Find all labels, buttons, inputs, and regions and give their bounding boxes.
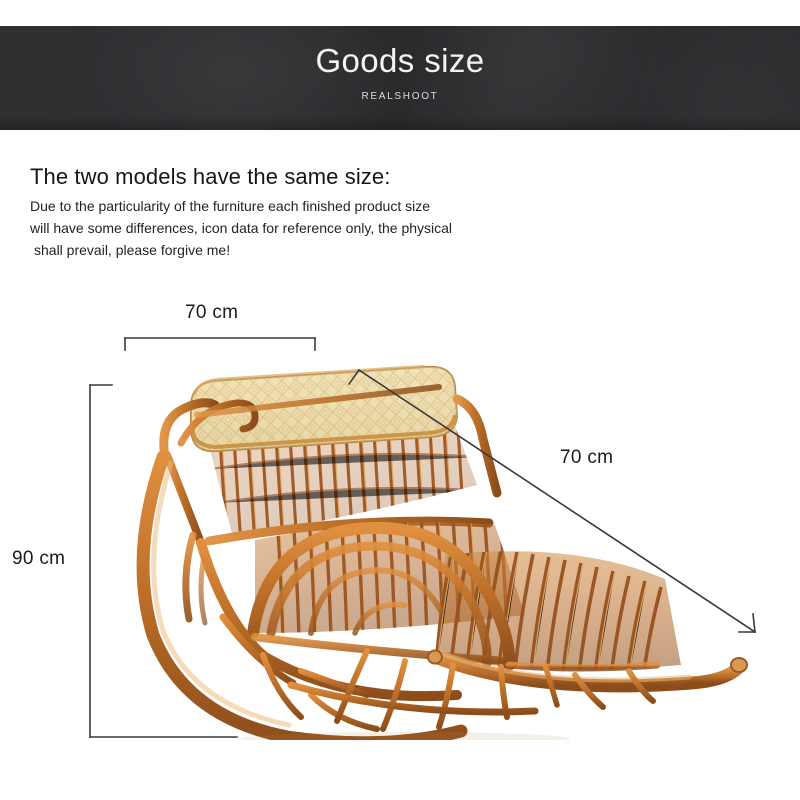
intro-section: The two models have the same size: Due t… xyxy=(30,162,650,261)
dimension-line-width xyxy=(125,338,315,350)
intro-body-line-3: shall prevail, please forgive me! xyxy=(30,239,460,261)
intro-body-line-2: will have some differences, icon data fo… xyxy=(30,217,460,239)
product-photo-rattan-rocking-chair xyxy=(105,365,765,740)
header-banner: Goods size REALSHOOT xyxy=(0,26,800,130)
banner-subtitle: REALSHOOT xyxy=(0,92,800,102)
intro-body: Due to the particularity of the furnitur… xyxy=(30,195,460,261)
rail-end-cap xyxy=(731,658,747,672)
dimension-label-depth: 70 cm xyxy=(560,447,613,469)
dimension-label-width: 70 cm xyxy=(185,302,238,324)
product-dimension-diagram: 70 cm 90 cm 70 cm xyxy=(0,280,800,780)
dimension-label-height: 90 cm xyxy=(12,548,65,570)
intro-heading: The two models have the same size: xyxy=(30,162,650,192)
rail-end-cap xyxy=(428,651,442,664)
page-title: Goods size xyxy=(0,44,800,77)
intro-body-line-1: Due to the particularity of the furnitur… xyxy=(30,195,460,217)
